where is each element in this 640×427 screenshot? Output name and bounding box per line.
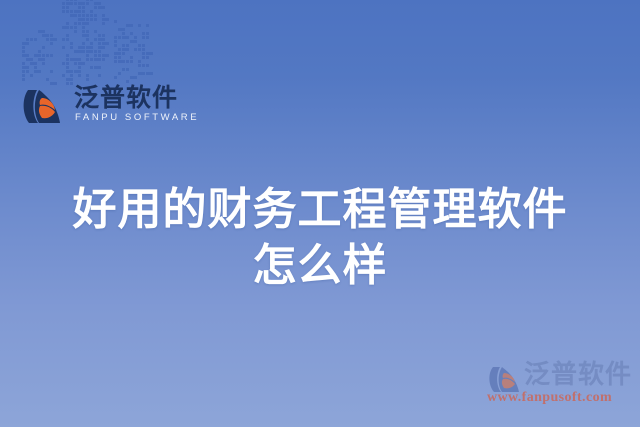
promo-banner: 泛普软件 FANPU SOFTWARE 好用的财务工程管理软件 怎么样 泛普软件… — [0, 0, 640, 427]
brand-name-en: FANPU SOFTWARE — [75, 112, 199, 123]
watermark: 泛普软件 www.fanpusoft.com — [484, 356, 634, 414]
fanpu-shield-logo-icon — [22, 86, 64, 126]
brand-logo: 泛普软件 FANPU SOFTWARE — [22, 84, 172, 132]
watermark-name-cn: 泛普软件 — [524, 360, 632, 390]
page-title-line-1: 好用的财务工程管理软件 — [0, 182, 640, 238]
page-title: 好用的财务工程管理软件 怎么样 — [0, 182, 640, 294]
watermark-url: www.fanpusoft.com — [487, 390, 612, 406]
page-title-line-2: 怎么样 — [0, 238, 640, 294]
brand-name-cn: 泛普软件 — [74, 84, 178, 112]
pixel-cityscape-icon — [22, 0, 162, 88]
